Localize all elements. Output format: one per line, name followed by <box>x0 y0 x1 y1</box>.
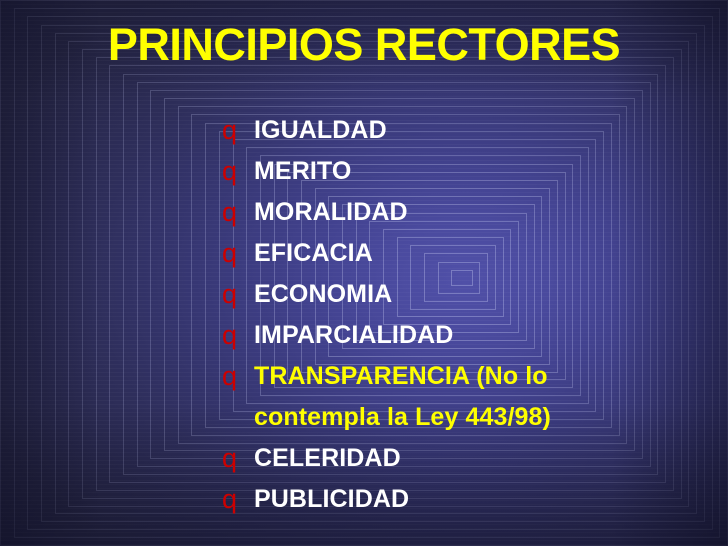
list-item-label: MERITO <box>254 151 351 192</box>
list-item: qPUBLICIDAD <box>222 479 692 520</box>
bullet-marker-icon: q <box>222 110 254 151</box>
list-item-label: PUBLICIDAD <box>254 479 409 520</box>
list-item-label: EFICACIA <box>254 233 373 274</box>
list-item: qEFICACIA <box>222 233 692 274</box>
slide-content: PRINCIPIOS RECTORES qIGUALDADqMERITOqMOR… <box>0 0 728 546</box>
bullet-marker-icon: q <box>222 151 254 192</box>
list-item: qIGUALDAD <box>222 110 692 151</box>
list-item-label: IMPARCIALIDAD <box>254 315 453 356</box>
bullet-marker-icon: q <box>222 233 254 274</box>
bullet-marker-icon: q <box>222 274 254 315</box>
list-item: qECONOMIA <box>222 274 692 315</box>
list-item-label: IGUALDAD <box>254 110 387 151</box>
bullet-marker-icon: q <box>222 192 254 233</box>
bullet-marker-icon: q <box>222 479 254 520</box>
list-item: qTRANSPARENCIA (No lo contempla la Ley 4… <box>222 356 692 438</box>
bullet-marker-icon: q <box>222 315 254 356</box>
bullet-marker-icon: q <box>222 356 254 397</box>
list-item: qMORALIDAD <box>222 192 692 233</box>
list-item: qCELERIDAD <box>222 438 692 479</box>
bullet-marker-icon: q <box>222 438 254 479</box>
list-item-label: CELERIDAD <box>254 438 401 479</box>
list-item: qIMPARCIALIDAD <box>222 315 692 356</box>
slide-title: PRINCIPIOS RECTORES <box>0 20 728 70</box>
bullet-list: qIGUALDADqMERITOqMORALIDADqEFICACIAqECON… <box>222 110 692 520</box>
list-item-label: ECONOMIA <box>254 274 392 315</box>
presentation-slide: PRINCIPIOS RECTORES qIGUALDADqMERITOqMOR… <box>0 0 728 546</box>
list-item-label: MORALIDAD <box>254 192 408 233</box>
list-item-label: TRANSPARENCIA (No lo contempla la Ley 44… <box>254 356 654 438</box>
list-item: qMERITO <box>222 151 692 192</box>
